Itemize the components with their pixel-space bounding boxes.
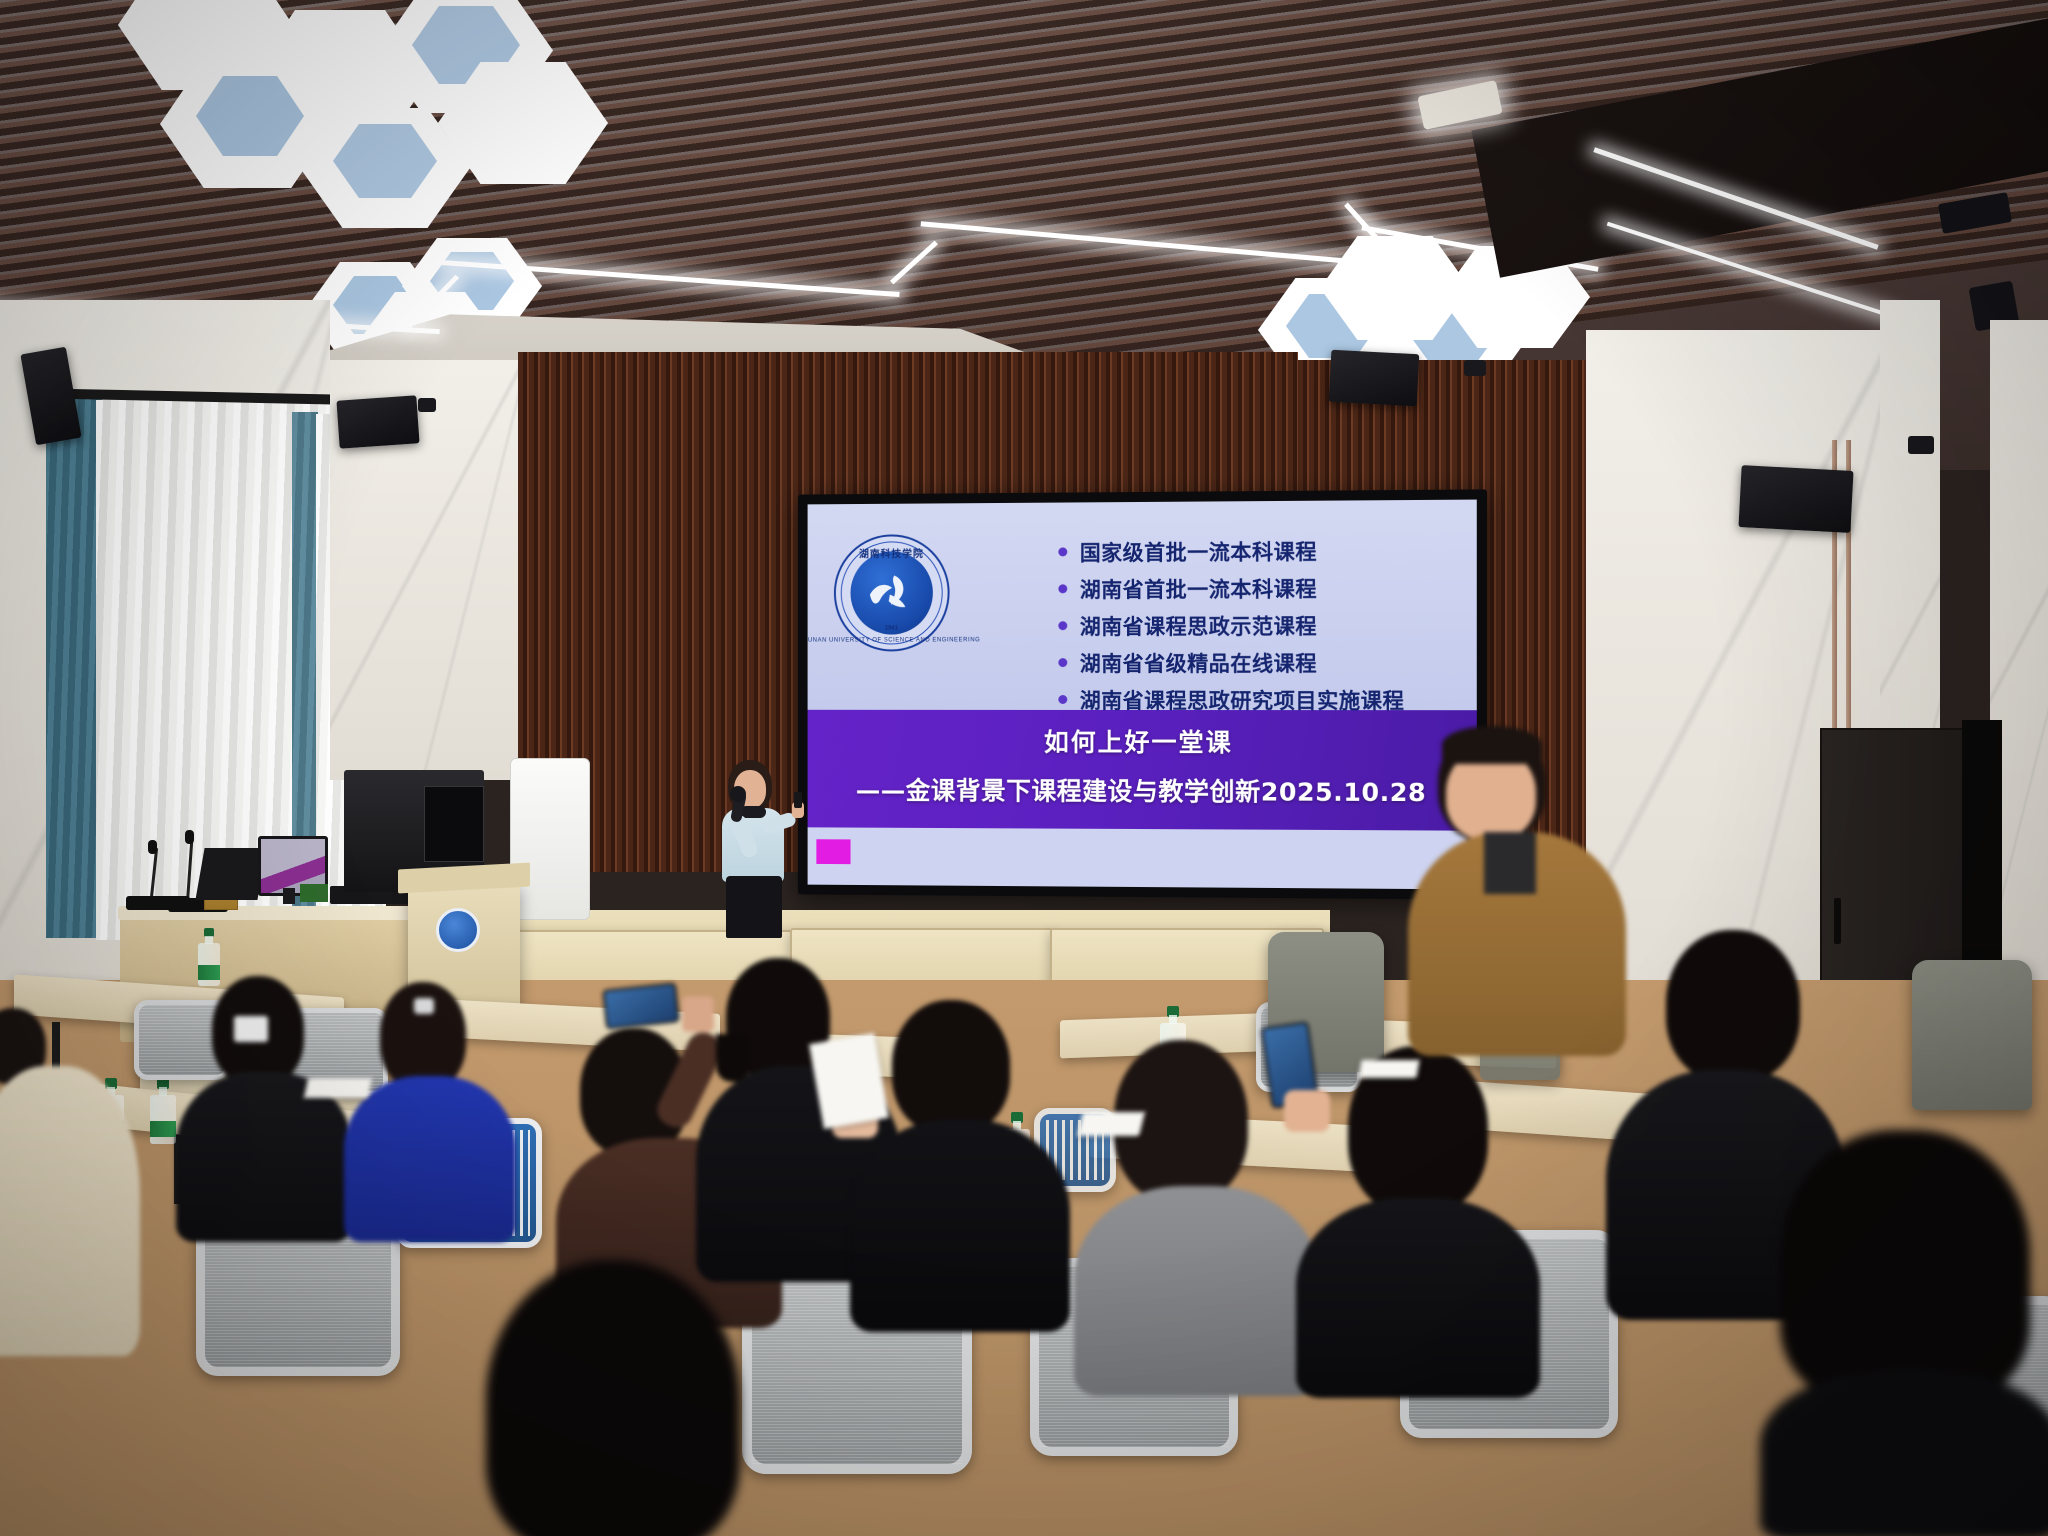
slide-title: 如何上好一堂课	[808, 723, 1477, 760]
microphone-head-icon	[730, 786, 746, 802]
audience-member	[162, 976, 362, 1226]
paper-sheet	[1077, 1112, 1145, 1136]
hair-clip	[234, 1016, 268, 1042]
desk-indicator	[300, 884, 328, 902]
bullet-text: 湖南省首批一流本科课程	[1080, 573, 1317, 604]
audience-member	[0, 1060, 160, 1360]
presentation-clicker[interactable]	[794, 792, 802, 808]
logo-founding-year: 1941	[885, 625, 898, 631]
laptop-lid	[195, 848, 266, 900]
audience-body	[344, 1076, 516, 1242]
slide-bullet-list: 国家级首批一流本科课程 湖南省首批一流本科课程 湖南省课程思政示范课程 湖南省省…	[1058, 535, 1449, 722]
slide-bullet-item: 国家级首批一流本科课程	[1058, 535, 1449, 567]
university-logo: 湖南科技学院 1941 HUNAN UNIVERSITY OF SCIENCE …	[834, 534, 950, 651]
security-camera	[1908, 436, 1934, 454]
microphone-capsule-icon	[185, 830, 194, 844]
slide-lower-area	[808, 828, 1477, 890]
bullet-text: 湖南省省级精品在线课程	[1080, 647, 1317, 677]
audience-head	[1666, 930, 1800, 1082]
monitor-stand	[283, 888, 295, 904]
paper-sheet	[304, 1078, 372, 1098]
logo-bird-icon	[864, 565, 920, 624]
audience-body	[850, 1120, 1070, 1332]
security-camera	[1464, 360, 1486, 376]
audience-inner-shirt	[1484, 832, 1536, 894]
slide-bullet-item: 湖南省课程思政研究项目实施课程	[1058, 685, 1449, 715]
slide-bullet-item: 湖南省省级精品在线课程	[1058, 647, 1449, 678]
audience-head	[1780, 1130, 2030, 1400]
audience-member	[846, 1000, 1076, 1320]
bullet-dot-icon	[1058, 621, 1067, 630]
smartphone[interactable]	[602, 982, 680, 1030]
bullet-dot-icon	[1058, 658, 1067, 667]
slide-subtitle: ——金课背景下课程建设与教学创新2025.10.28	[808, 771, 1477, 809]
audience-member-foreground	[446, 1260, 776, 1536]
audience-body	[1760, 1370, 2048, 1536]
wall-speaker	[336, 395, 419, 448]
logo-english-name: HUNAN UNIVERSITY OF SCIENCE AND ENGINEER…	[808, 637, 981, 643]
hair-tie	[414, 998, 434, 1014]
audience-hand	[1284, 1090, 1330, 1132]
slide-bullet-item: 湖南省课程思政示范课程	[1058, 610, 1449, 641]
wall-speaker-right	[1329, 350, 1420, 407]
air-conditioner	[510, 758, 590, 920]
presenter-skirt	[726, 876, 782, 938]
audience-member	[1408, 726, 1628, 1056]
security-camera	[418, 398, 436, 412]
phone-screen	[604, 984, 677, 1027]
bullet-dot-icon	[1058, 548, 1067, 557]
paper-sheet	[1358, 1060, 1419, 1078]
audience-head	[486, 1260, 740, 1536]
bullet-text: 国家级首批一流本科课程	[1080, 536, 1317, 567]
presenter	[700, 760, 810, 940]
led-display-screen: 湖南科技学院 1941 HUNAN UNIVERSITY OF SCIENCE …	[798, 489, 1487, 899]
bullet-text: 湖南省课程思政示范课程	[1080, 610, 1317, 641]
logo-chinese-name: 湖南科技学院	[859, 545, 924, 560]
audience-body	[1296, 1198, 1540, 1398]
ponytail	[716, 1034, 750, 1082]
bullet-dot-icon	[1058, 695, 1067, 704]
chair-executive[interactable]	[1912, 960, 2032, 1110]
bullet-text: 湖南省课程思政研究项目实施课程	[1080, 685, 1405, 715]
lecture-hall-photo: 湖南科技学院 1941 HUNAN UNIVERSITY OF SCIENCE …	[0, 0, 2048, 1536]
bullet-dot-icon	[1058, 584, 1067, 593]
presentation-slide: 湖南科技学院 1941 HUNAN UNIVERSITY OF SCIENCE …	[808, 500, 1477, 890]
audience-hair	[1442, 726, 1542, 764]
podium-emblem	[436, 908, 480, 952]
slide-pink-marker	[817, 839, 851, 864]
audience-member	[336, 982, 526, 1232]
side-curtain	[46, 398, 102, 938]
slide-bullet-item: 湖南省首批一流本科课程	[1058, 572, 1449, 604]
audience-head	[892, 1000, 1010, 1134]
microphone-capsule-icon	[148, 840, 157, 854]
audience-body	[0, 1066, 140, 1356]
wall-speaker-right-2	[1738, 465, 1853, 533]
av-rack-panel	[424, 786, 484, 862]
audience-body	[1074, 1186, 1320, 1396]
audience-member-foreground	[1760, 1130, 2048, 1536]
